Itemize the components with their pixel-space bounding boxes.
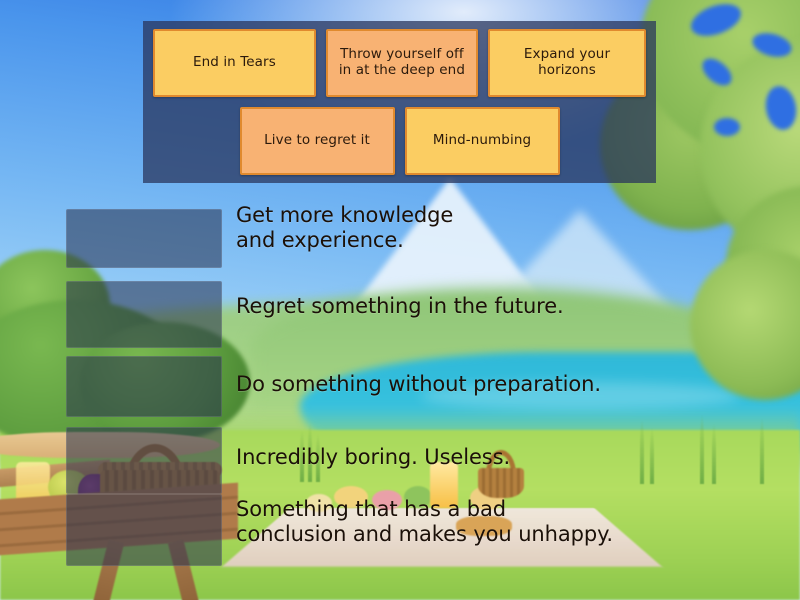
definition-text-5: Something that has a badconclusion and m… xyxy=(236,497,613,547)
definition-text-1: Get more knowledgeand experience. xyxy=(236,203,453,253)
drop-zone-2[interactable] xyxy=(66,281,222,348)
definition-text-4: Incredibly boring. Useless. xyxy=(236,445,510,470)
drop-zone-3[interactable] xyxy=(66,356,222,417)
drop-zone-5[interactable] xyxy=(66,494,222,566)
match-list: Get more knowledgeand experience. Regret… xyxy=(0,0,800,600)
activity-stage: End in Tears Throw yourself offin at the… xyxy=(0,0,800,600)
definition-text-2: Regret something in the future. xyxy=(236,294,564,319)
drop-zone-4[interactable] xyxy=(66,427,222,494)
definition-text-3: Do something without preparation. xyxy=(236,372,601,397)
drop-zone-1[interactable] xyxy=(66,209,222,268)
